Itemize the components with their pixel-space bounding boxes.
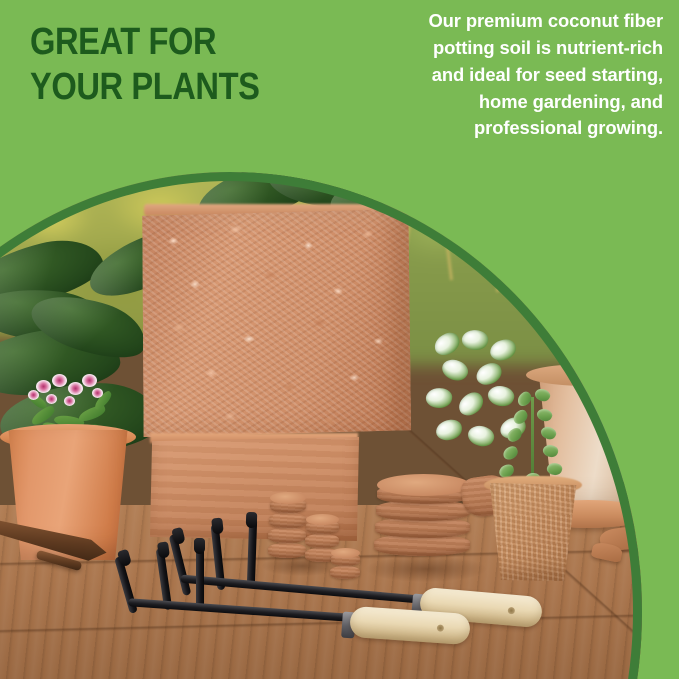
variegated-leaf xyxy=(431,330,463,359)
body-line-4: home gardening, and xyxy=(323,89,663,116)
flower-bloom xyxy=(68,382,83,395)
headline-line-1: GREAT FOR xyxy=(30,20,288,65)
flower-bloom xyxy=(28,390,39,400)
cultivator-tine-tip xyxy=(211,517,224,534)
body-line-2: potting soil is nutrient-rich xyxy=(323,35,663,62)
product-photo xyxy=(0,0,679,679)
disc-shadow xyxy=(366,556,486,582)
coir-pellet xyxy=(305,534,339,548)
flower-bloom xyxy=(46,394,57,404)
succulent-leaf xyxy=(533,386,552,404)
coir-seedling-pot xyxy=(487,483,579,581)
cultivator-tine-tip xyxy=(194,538,205,554)
coir-pellet xyxy=(330,566,360,579)
coir-pellet-top xyxy=(270,492,306,504)
succulent-leaf xyxy=(511,408,530,426)
variegated-leaf xyxy=(455,389,488,419)
variegated-leaf xyxy=(435,419,463,442)
body-line-1: Our premium coconut fiber xyxy=(323,8,663,35)
headline-line-2: YOUR PLANTS xyxy=(30,65,288,110)
cultivator-tine-tip xyxy=(157,541,170,558)
succulent-leaf xyxy=(539,424,558,442)
coir-pellet xyxy=(268,528,306,543)
flower-bloom xyxy=(92,388,103,398)
cultivator-tine-tip xyxy=(246,512,258,528)
succulent-leaf xyxy=(535,406,554,423)
succulent-leaf xyxy=(501,445,519,462)
variegated-leaf xyxy=(425,386,454,409)
coir-pellet-top xyxy=(306,514,339,525)
variegated-leaf xyxy=(488,338,517,362)
succulent-leaf xyxy=(505,426,524,444)
body-copy: Our premium coconut fiber potting soil i… xyxy=(323,8,663,142)
coir-block xyxy=(141,209,411,437)
flower-bloom xyxy=(52,374,67,387)
headline: GREAT FOR YOUR PLANTS xyxy=(30,20,288,110)
variegated-leaf xyxy=(460,328,490,353)
coir-disc-top xyxy=(377,474,470,496)
variegated-leaf xyxy=(439,355,472,385)
succulent-leaf xyxy=(541,443,559,460)
text-banner: GREAT FOR YOUR PLANTS Our premium coconu… xyxy=(0,0,679,176)
coir-pellet-top xyxy=(331,548,360,558)
body-line-3: and ideal for seed starting, xyxy=(323,62,663,89)
photo-inner xyxy=(0,0,679,679)
flower-bloom xyxy=(64,396,75,406)
flower-bloom xyxy=(36,380,51,393)
flower-bloom xyxy=(82,374,97,387)
succulent-leaf xyxy=(546,461,564,477)
body-line-5: professional growing. xyxy=(323,115,663,142)
product-ad-banner: GREAT FOR YOUR PLANTS Our premium coconu… xyxy=(0,0,679,679)
coir-pellet xyxy=(268,543,306,558)
succulent-plant xyxy=(487,381,579,489)
coir-pellet xyxy=(269,513,306,528)
